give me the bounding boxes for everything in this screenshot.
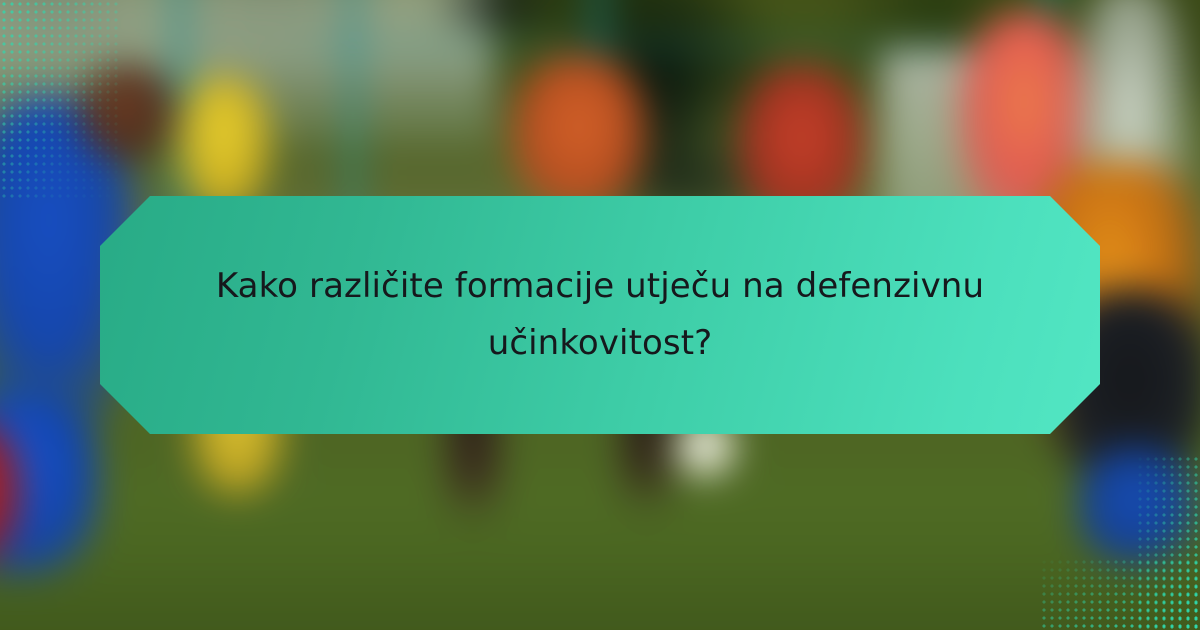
headline-banner: Kako različite formacije utječu na defen…: [100, 196, 1100, 434]
player-yellow: [176, 77, 271, 215]
page-title: Kako različite formacije utječu na defen…: [115, 258, 1085, 372]
player-left-head: [78, 64, 176, 162]
player-right-blue-sock: [1077, 448, 1194, 565]
social-card: Kako različite formacije utječu na defen…: [0, 0, 1200, 630]
player-orange-center: [510, 55, 648, 214]
